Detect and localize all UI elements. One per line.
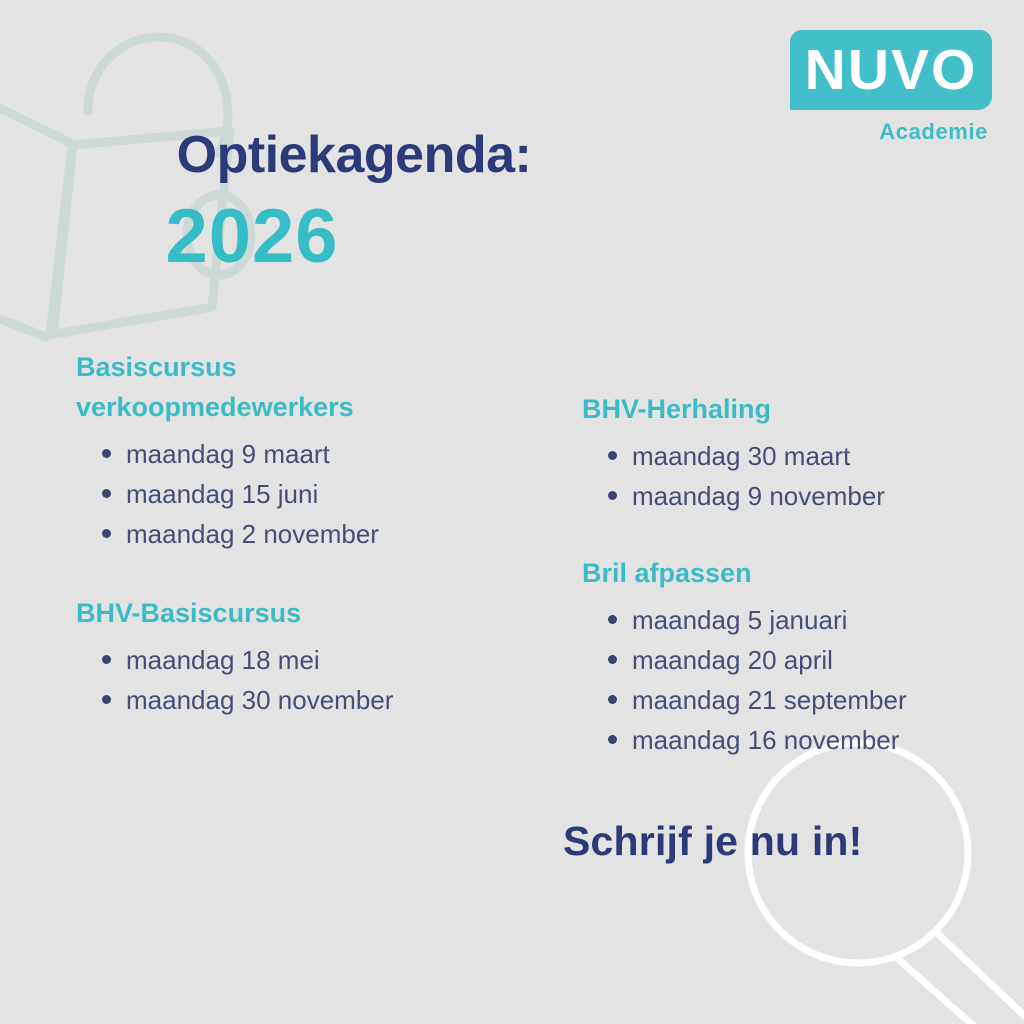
bullet-icon: [608, 735, 617, 744]
course-section: BHV-Basiscursus maandag 18 mei maandag 3…: [76, 594, 516, 720]
magnifying-glass-outline: [700, 735, 1024, 1024]
list-item: maandag 2 november: [76, 514, 516, 554]
bullet-icon: [102, 695, 111, 704]
course-section: BHV-Herhaling maandag 30 maart maandag 9…: [582, 390, 1002, 516]
bullet-icon: [608, 655, 617, 664]
logo-badge: NUVO: [790, 30, 992, 110]
bullet-icon: [608, 451, 617, 460]
logo-subtitle: Academie: [786, 119, 992, 145]
list-item: maandag 9 november: [582, 476, 1002, 516]
course-date-list: maandag 5 januari maandag 20 april maand…: [582, 600, 1002, 760]
course-section: Bril afpassen maandag 5 januari maandag …: [582, 554, 1002, 760]
course-column-left: Basiscursus verkoopmedewerkers maandag 9…: [76, 348, 516, 720]
course-date: maandag 21 september: [632, 685, 907, 715]
course-date: maandag 16 november: [632, 725, 899, 755]
course-date: maandag 30 maart: [632, 441, 850, 471]
course-date: maandag 18 mei: [126, 645, 320, 675]
list-item: maandag 9 maart: [76, 434, 516, 474]
course-date: maandag 2 november: [126, 519, 379, 549]
course-date-list: maandag 30 maart maandag 9 november: [582, 436, 1002, 516]
course-date-list: maandag 9 maart maandag 15 juni maandag …: [76, 434, 516, 554]
bullet-icon: [102, 449, 111, 458]
list-item: maandag 5 januari: [582, 600, 1002, 640]
list-item: maandag 30 maart: [582, 436, 1002, 476]
logo-wordmark: NUVO: [805, 42, 978, 99]
course-heading: BHV-Herhaling: [582, 390, 1002, 430]
poster-canvas: NUVO Academie Optiekagenda: 2026 Basiscu…: [0, 0, 1024, 1024]
list-item: maandag 30 november: [76, 680, 516, 720]
list-item: maandag 16 november: [582, 720, 1002, 760]
course-date: maandag 15 juni: [126, 479, 318, 509]
title-year: 2026: [0, 195, 1024, 279]
list-item: maandag 21 september: [582, 680, 1002, 720]
course-section: Basiscursus verkoopmedewerkers maandag 9…: [76, 348, 516, 554]
list-item: maandag 18 mei: [76, 640, 516, 680]
bullet-icon: [608, 615, 617, 624]
course-date: maandag 9 maart: [126, 439, 330, 469]
course-heading: BHV-Basiscursus: [76, 594, 516, 634]
list-item: maandag 20 april: [582, 640, 1002, 680]
bullet-icon: [102, 655, 111, 664]
bullet-icon: [608, 695, 617, 704]
course-heading: Bril afpassen: [582, 554, 1002, 594]
list-item: maandag 15 juni: [76, 474, 516, 514]
course-date: maandag 9 november: [632, 481, 885, 511]
course-date: maandag 20 april: [632, 645, 833, 675]
course-date: maandag 5 januari: [632, 605, 847, 635]
bullet-icon: [102, 529, 111, 538]
course-date: maandag 30 november: [126, 685, 393, 715]
brand-logo: NUVO Academie: [786, 30, 992, 145]
course-column-right: BHV-Herhaling maandag 30 maart maandag 9…: [582, 390, 1002, 760]
course-heading: Basiscursus verkoopmedewerkers: [76, 348, 516, 428]
cta-text: Schrijf je nu in!: [563, 818, 863, 865]
reading-person-book-outline: [0, 0, 266, 352]
bullet-icon: [608, 491, 617, 500]
page-title: Optiekagenda: 2026: [0, 128, 1024, 278]
course-date-list: maandag 18 mei maandag 30 november: [76, 640, 516, 720]
bullet-icon: [102, 489, 111, 498]
